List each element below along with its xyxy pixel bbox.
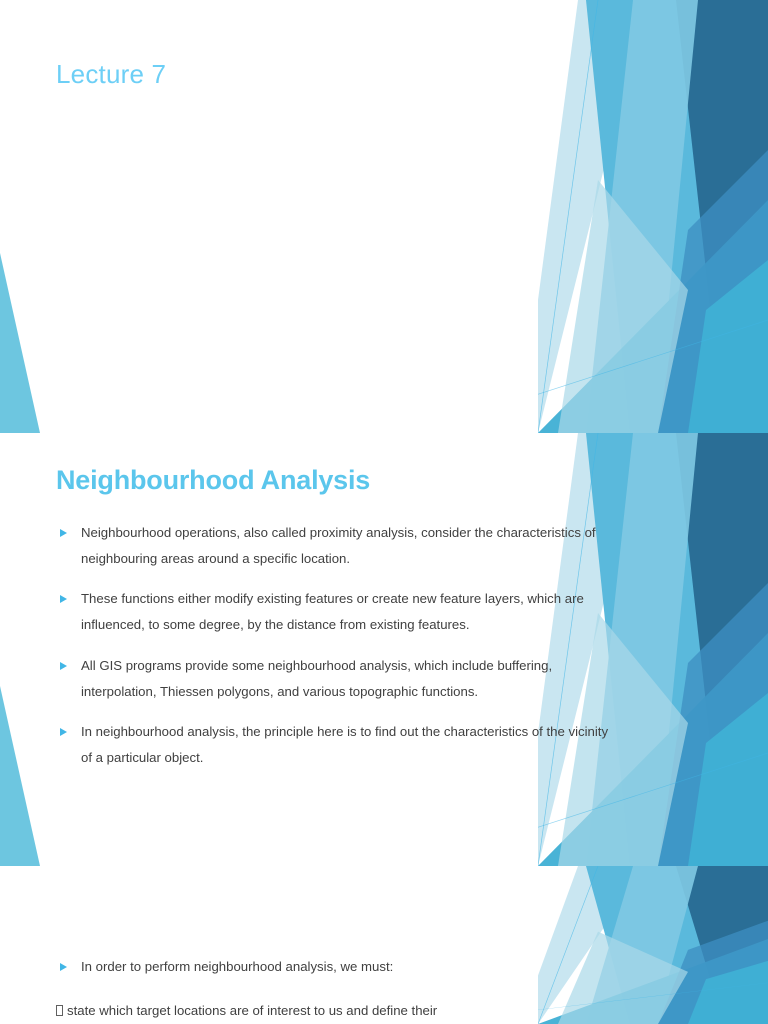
- slide-deck: Lecture 7 Neighbourhood Analy: [0, 0, 768, 1024]
- bullet-item: All GIS programs provide some neighbourh…: [56, 653, 616, 705]
- bullet-item: In neighbourhood analysis, the principle…: [56, 719, 616, 771]
- bullet-text: Neighbourhood operations, also called pr…: [81, 525, 596, 566]
- slide-title: Lecture 7: [56, 59, 166, 90]
- triangle-bullet-icon: [60, 595, 67, 603]
- triangle-bullet-icon: [60, 529, 67, 537]
- decorative-left-triangle-slide-1: [0, 253, 46, 433]
- triangle-bullet-icon: [60, 963, 67, 971]
- bullet-item: Neighbourhood operations, also called pr…: [56, 520, 616, 572]
- bullet-list: Neighbourhood operations, also called pr…: [56, 520, 616, 771]
- slide-1-title[interactable]: Lecture 7: [0, 0, 768, 433]
- bullet-text: All GIS programs provide some neighbourh…: [81, 658, 552, 699]
- triangle-bullet-icon: [60, 662, 67, 670]
- bullet-text: In neighbourhood analysis, the principle…: [81, 724, 608, 765]
- bullet-item: These functions either modify existing f…: [56, 586, 616, 638]
- bullet-text: These functions either modify existing f…: [81, 591, 584, 632]
- decorative-right-shapes-slide-1: [538, 0, 768, 433]
- slide-3-partial[interactable]: In order to perform neighbourhood analys…: [0, 866, 768, 1024]
- bullet-item: In order to perform neighbourhood analys…: [56, 954, 616, 980]
- sub-bullet-text: state which target locations are of inte…: [67, 1003, 437, 1018]
- missing-glyph-bullet-icon: [56, 1005, 63, 1016]
- bullet-text: In order to perform neighbourhood analys…: [81, 959, 393, 974]
- slide-2-body: Neighbourhood Analysis Neighbourhood ope…: [56, 465, 616, 771]
- sub-bullet-item: state which target locations are of inte…: [56, 998, 616, 1024]
- slide-heading: Neighbourhood Analysis: [56, 465, 616, 496]
- triangle-bullet-icon: [60, 728, 67, 736]
- slide-2-neighbourhood-analysis[interactable]: Neighbourhood Analysis Neighbourhood ope…: [0, 433, 768, 866]
- slide-3-body: In order to perform neighbourhood analys…: [56, 954, 616, 1024]
- decorative-left-triangle-slide-2: [0, 686, 46, 866]
